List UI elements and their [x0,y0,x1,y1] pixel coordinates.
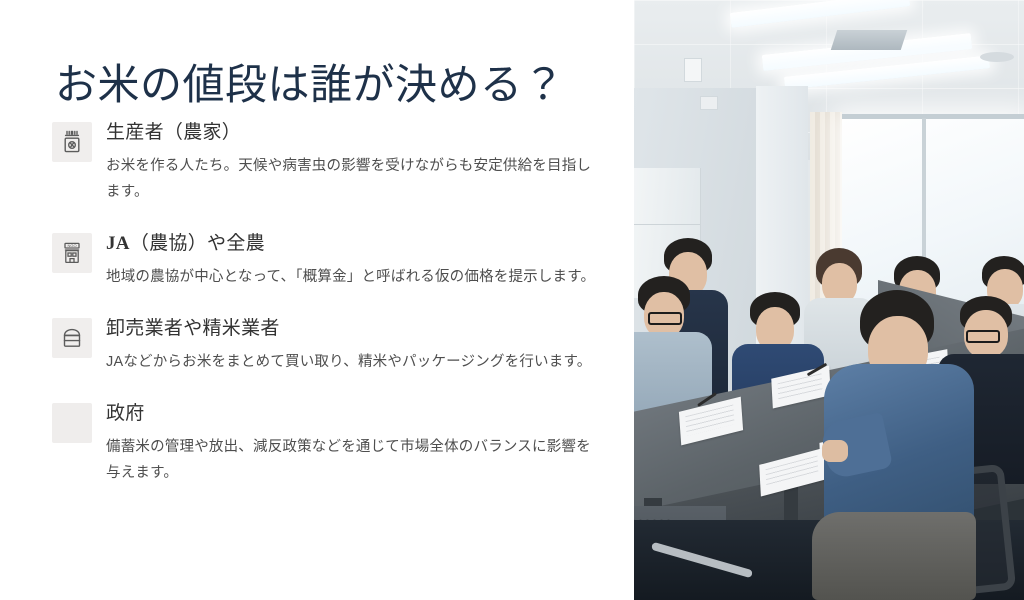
list-item-description: 備蓄米の管理や放出、減反政策などを通じて市場全体のバランスに影響を与えます。 [106,434,604,487]
meeting-room-photo [634,0,1024,600]
page-title: お米の値段は誰が決める？ [55,60,565,110]
list-item: NGO JA（農協）や全農 地域の農協が中心となって、「概算金」と呼ばれる仮の価… [52,231,608,290]
photo-scene [634,0,1024,600]
wall-mounted-box [684,58,702,82]
slide-root: お米の値段は誰が決める？ 生産者（農家） お米を作る人たち。天候 [0,0,1024,600]
list-item: 生産者（農家） お米を作る人たち。天候や病害虫の影響を受けながらも安定供給を目指… [52,120,608,205]
wall-switch-plate [700,96,718,110]
hand [822,440,848,462]
stakeholder-list: 生産者（農家） お米を作る人たち。天候や病害虫の影響を受けながらも安定供給を目指… [52,120,608,487]
content-column: お米の値段は誰が決める？ 生産者（農家） お米を作る人たち。天候 [0,0,634,600]
list-item-description: JAなどからお米をまとめて買い取り、精米やパッケージングを行います。 [106,349,604,375]
ngo-building-icon: NGO [52,233,92,273]
list-item-description: 地域の農協が中心となって、「概算金」と呼ばれる仮の価格を提示します。 [106,264,604,290]
ceiling-speaker [980,52,1014,62]
rice-canister-icon [52,122,92,162]
list-item-description: お米を作る人たち。天候や病害虫の影響を受けながらも安定供給を目指します。 [106,153,604,206]
storefront-icon [52,318,92,358]
glasses-icon [648,312,682,325]
svg-text:NGO: NGO [67,243,76,248]
list-item: 卸売業者や精米業者 JAなどからお米をまとめて買い取り、精米やパッケージングを行… [52,316,608,375]
list-item-heading: 政府 [106,401,608,427]
list-item-heading: 卸売業者や精米業者 [106,316,608,342]
list-item-body: 生産者（農家） お米を作る人たち。天候や病害虫の影響を受けながらも安定供給を目指… [92,120,608,205]
list-item-heading: 生産者（農家） [106,120,608,146]
ceiling-air-conditioner [831,30,907,50]
list-item: 政府 備蓄米の管理や放出、減反政策などを通じて市場全体のバランスに影響を与えます… [52,401,608,486]
list-item-heading: JA（農協）や全農 [106,231,608,257]
list-item-heading-jp: （農協）や全農 [130,233,265,254]
list-item-body: 政府 備蓄米の管理や放出、減反政策などを通じて市場全体のバランスに影響を与えます… [92,401,608,486]
trousers [812,512,976,600]
window-frame [842,114,1024,119]
glasses-icon [966,330,1000,343]
list-item-body: JA（農協）や全農 地域の農協が中心となって、「概算金」と呼ばれる仮の価格を提示… [92,231,608,290]
blank-icon [52,403,92,443]
list-item-body: 卸売業者や精米業者 JAなどからお米をまとめて買い取り、精米やパッケージングを行… [92,316,608,375]
list-item-heading-latin: JA [106,233,130,254]
